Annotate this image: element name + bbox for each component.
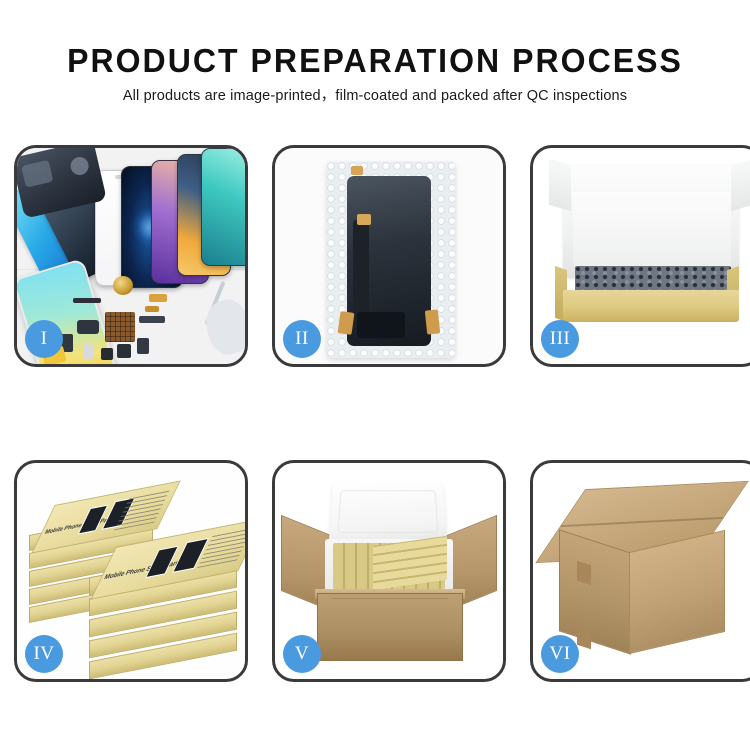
phone-screen-teal: [201, 148, 245, 266]
process-step-5: V: [272, 460, 506, 682]
foam-sheet: [573, 192, 731, 266]
box-spec-text-block: [197, 527, 245, 568]
flex-strip-component: [73, 298, 101, 303]
foam-cooler-lid: [329, 481, 448, 545]
page-subtitle: All products are image-printed，film-coat…: [0, 87, 750, 105]
gold-contact-component: [145, 306, 159, 312]
gold-connector-component: [149, 294, 167, 302]
carton-tape-upper: [577, 561, 591, 586]
step-badge-6: VI: [541, 635, 579, 673]
process-step-1: I: [14, 145, 248, 367]
step-badge-3: III: [541, 320, 579, 358]
step-badge-1: I: [25, 320, 63, 358]
process-step-4: Mobile Phone Spare Parts Mobile Phone Sp…: [14, 460, 248, 682]
process-step-6: VI: [530, 460, 750, 682]
step-badge-5: V: [283, 635, 321, 673]
step-badge-4: IV: [25, 635, 63, 673]
box-front-wall: [563, 290, 739, 322]
lcd-connector-board: [357, 312, 405, 338]
step-badge-2: II: [283, 320, 321, 358]
process-step-3: III: [530, 145, 750, 367]
speaker-component: [113, 276, 133, 295]
page-header: PRODUCT PREPARATION PROCESS All products…: [0, 0, 750, 105]
circuit-board-component: [105, 312, 135, 342]
page-title: PRODUCT PREPARATION PROCESS: [11, 42, 739, 80]
camera-module-component: [77, 320, 99, 334]
receiver-component: [117, 344, 131, 358]
adhesive-tape-right: [425, 309, 440, 334]
adhesive-tape-corner: [351, 166, 363, 175]
process-step-grid: I II III: [14, 145, 736, 682]
carton-front-wall: [317, 593, 463, 661]
bubble-wrap-sleeve: [327, 162, 455, 358]
process-step-2: II: [272, 145, 506, 367]
sim-tray-component: [83, 344, 93, 360]
button-flex-component: [137, 338, 149, 354]
adhesive-tape-top: [357, 214, 371, 225]
box-spec-text-block: [114, 490, 170, 531]
vibrator-component: [101, 348, 113, 360]
antenna-flex-component: [139, 316, 165, 323]
